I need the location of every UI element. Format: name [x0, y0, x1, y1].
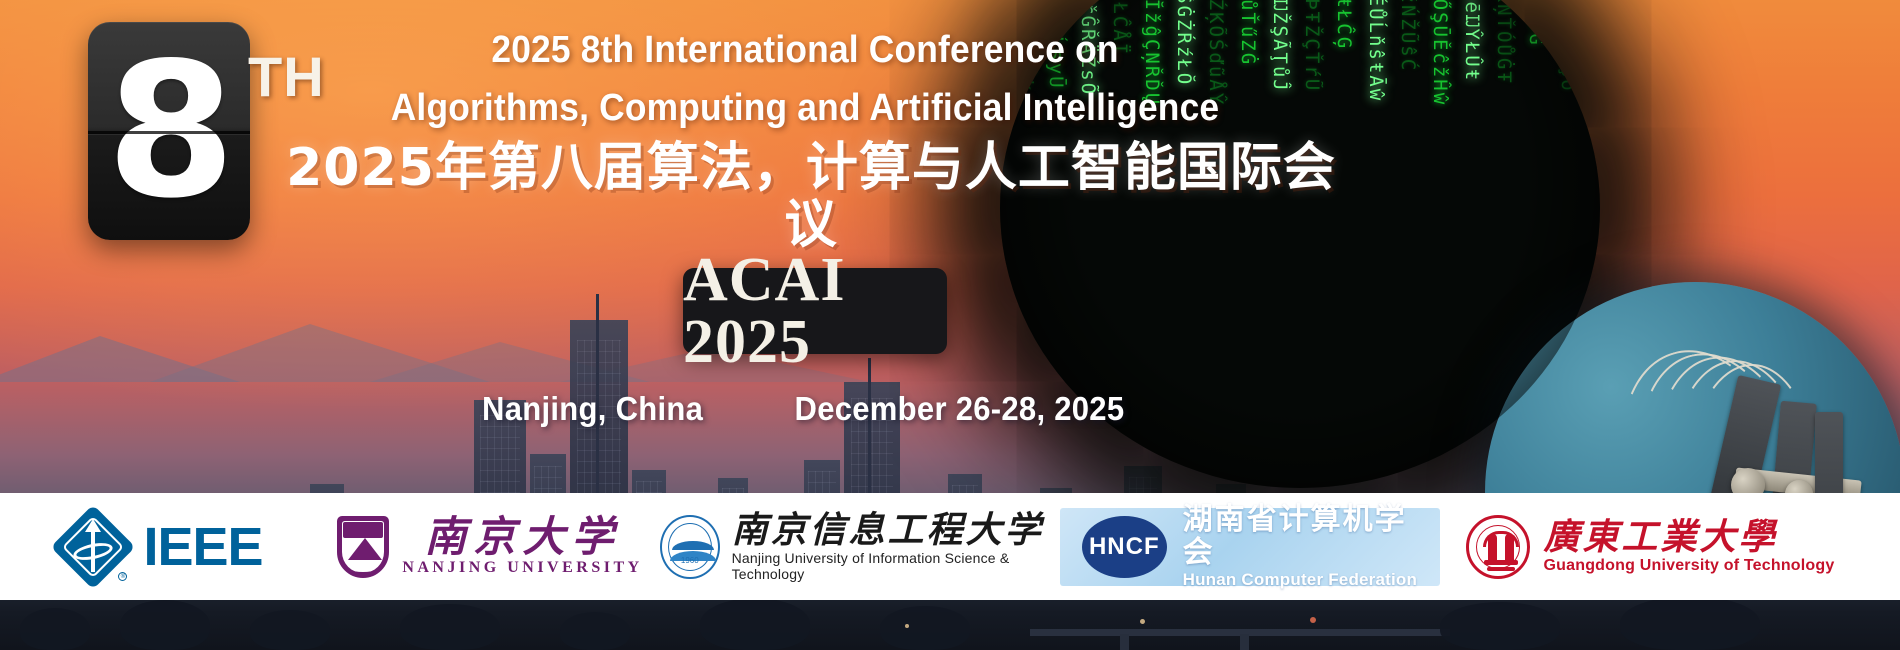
sponsor-logo-hncf[interactable]: HNCF 湖南省计算机学会 Hunan Computer Federation [1060, 493, 1440, 600]
gdut-name-english: Guangdong University of Technology [1544, 557, 1835, 575]
nju-name-english: NANJING UNIVERSITY [402, 559, 642, 577]
title-line-1: 2025 8th International Conference on [335, 22, 1274, 80]
conference-title-chinese: 2025年第八届算法，计算与人工智能国际会议 [276, 140, 1346, 254]
sponsor-logo-nuist[interactable]: 1960 南京信息工程大学 Nanjing University of Info… [660, 493, 1060, 600]
flip-clock-digit: 8 [88, 22, 250, 240]
nju-name-chinese: 南京大学 [424, 516, 620, 558]
conference-location: Nanjing, China [482, 390, 703, 428]
flip-seam [88, 131, 250, 134]
sponsor-logo-gdut[interactable]: 廣東工業大學 Guangdong University of Technolog… [1440, 493, 1860, 600]
gdut-seal-icon [1466, 515, 1530, 579]
conference-title-english: 2025 8th International Conference on Alg… [335, 22, 1274, 138]
sponsor-logo-ieee[interactable]: ® IEEE [0, 493, 320, 600]
ieee-wordmark: IEEE [143, 520, 262, 574]
acronym-label: ACAI 2025 [683, 249, 947, 373]
hncf-name-chinese: 湖南省计算机学会 [1183, 503, 1418, 569]
acronym-badge: ACAI 2025 [683, 268, 947, 354]
title-line-2: Algorithms, Computing and Artificial Int… [335, 80, 1274, 138]
hncf-abbrev: HNCF [1089, 533, 1160, 561]
ieee-diamond-icon: ® [57, 511, 129, 583]
edition-suffix: TH [248, 44, 325, 109]
registered-trademark-icon: ® [118, 572, 127, 581]
nuist-name-chinese: 南京信息工程大学 [732, 512, 1060, 548]
sponsor-logo-strip: ® IEEE 南京大学 NANJING UNIVERSITY [0, 493, 1900, 600]
nuist-founded-year: 1960 [662, 556, 718, 565]
gdut-name-chinese: 廣東工業大學 [1544, 519, 1835, 555]
conference-dates: December 26-28, 2025 [795, 390, 1125, 428]
nuist-name-english: Nanjing University of Information Scienc… [732, 550, 1060, 582]
hncf-name-english: Hunan Computer Federation [1183, 570, 1418, 590]
sponsor-logo-nanjing-university[interactable]: 南京大学 NANJING UNIVERSITY [320, 493, 660, 600]
hncf-oval-icon: HNCF [1082, 516, 1167, 578]
nuist-seal-icon: 1960 [660, 515, 720, 579]
nju-shield-icon [337, 516, 389, 578]
conference-banner: Ǎ4ŇÖmŹ0ßğÛñÊk ñÇŁÃÜb9ŽÕřĎĹsyŪ ŮŒ4/ĴÝŁřĜŘ… [0, 0, 1900, 650]
venue-and-date: Nanjing, China December 26-28, 2025 [300, 390, 1310, 428]
